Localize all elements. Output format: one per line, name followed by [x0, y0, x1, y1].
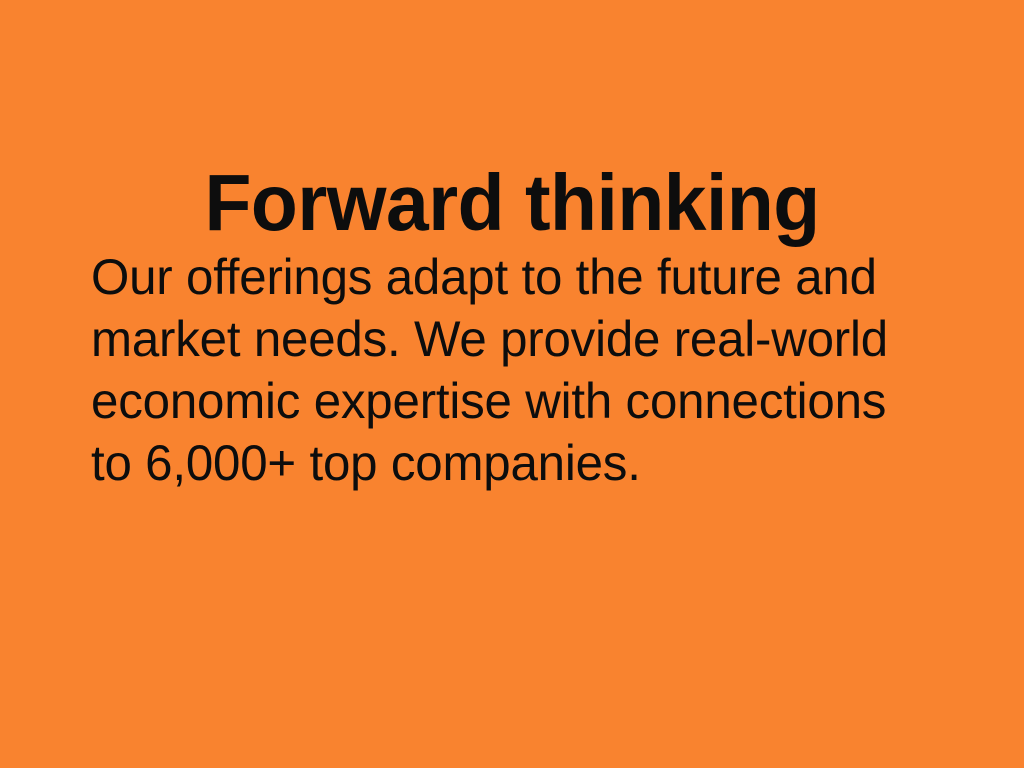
slide-body-text: Our offerings adapt to the future and ma…	[91, 246, 977, 494]
slide-title: Forward thinking	[21, 155, 1004, 251]
presentation-slide: Forward thinking Our offerings adapt to …	[0, 0, 1024, 768]
body-line: Our offerings adapt to the future and	[91, 246, 964, 308]
body-line: economic expertise with connections	[91, 370, 964, 432]
body-line: market needs. We provide real-world	[91, 308, 964, 370]
body-line: to 6,000+ top companies.	[91, 432, 964, 494]
